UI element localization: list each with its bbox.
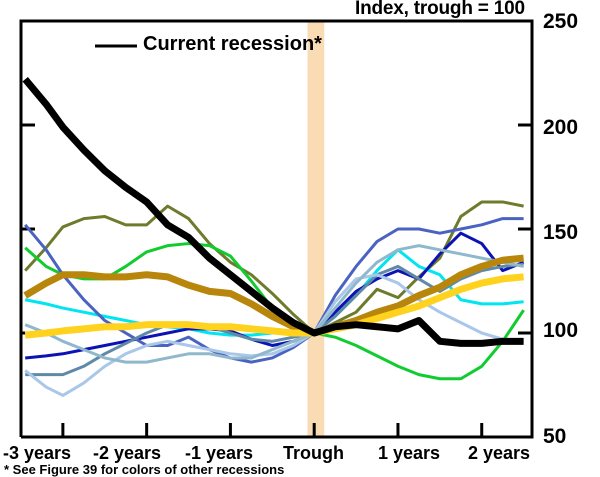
y-tick-200: 200 [543,116,578,140]
x-tick-minus-2-years: -2 years [93,443,161,464]
x-tick-minus-3-years: -3 years [3,443,71,464]
y-tick-50: 50 [543,425,566,449]
y-tick-250: 250 [543,10,578,34]
plot-canvas [0,0,600,476]
x-tick-2-years: 2 years [468,443,530,464]
y-tick-100: 100 [543,319,578,343]
x-tick-minus-1-years: -1 years [185,443,253,464]
legend-label-current-recession: Current recession* [143,33,322,56]
chart-footnote: * See Figure 39 for colors of other rece… [4,462,284,477]
series-line-current-recession [25,79,523,343]
x-tick-1-years: 1 years [378,443,440,464]
recession-index-chart: Index, trough = 100 Current recession* 2… [0,0,600,476]
trough-shaded-band [307,21,324,437]
y-tick-150: 150 [543,221,578,245]
x-tick-trough: Trough [283,443,344,464]
